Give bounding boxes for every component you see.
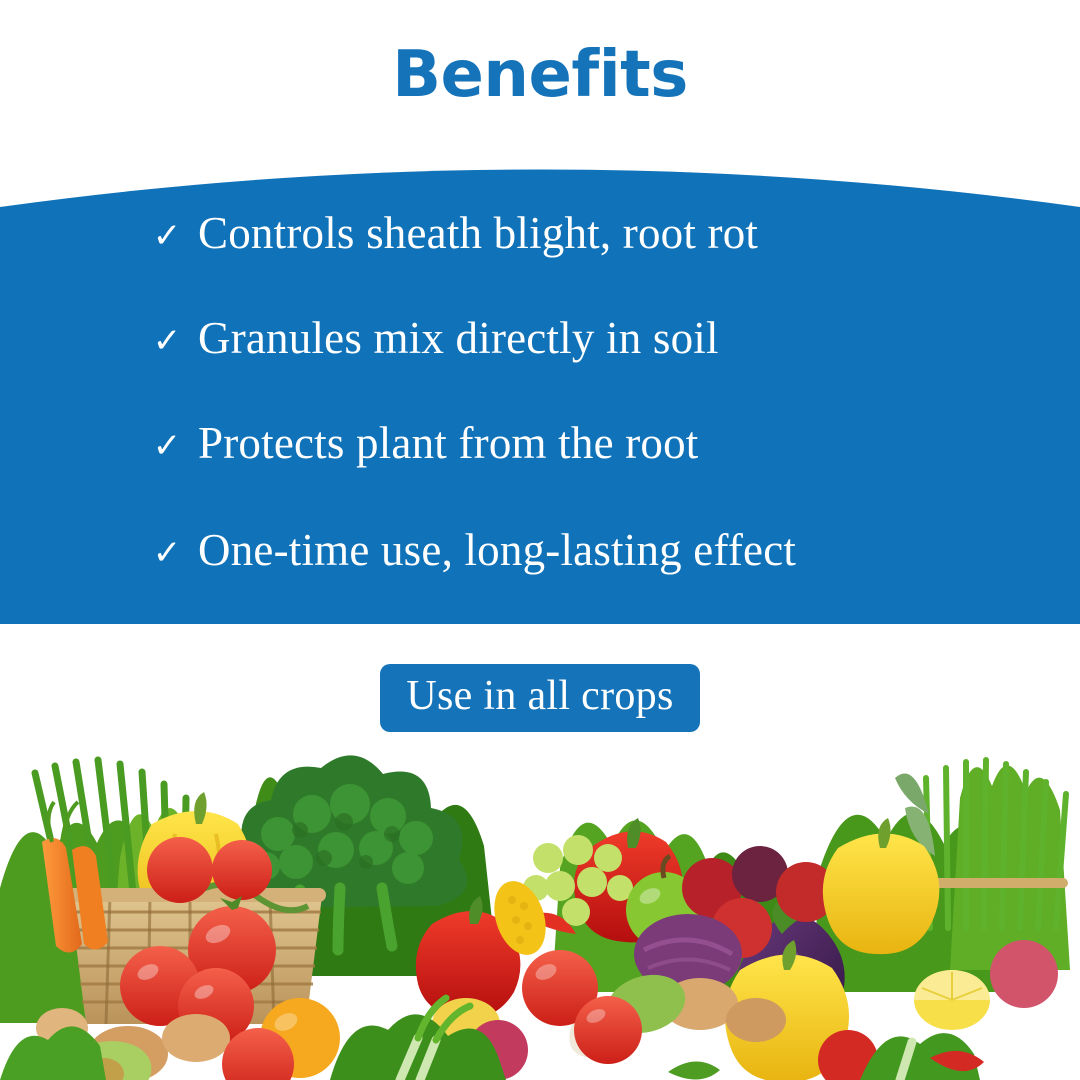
page-title-area: Benefits bbox=[0, 0, 1080, 150]
benefit-label: Protects plant from the root bbox=[198, 420, 699, 467]
benefit-item: ✓ Granules mix directly in soil bbox=[150, 315, 719, 362]
benefit-label: Controls sheath blight, root rot bbox=[198, 210, 758, 257]
benefits-list: ✓ Controls sheath blight, root rot ✓ Gra… bbox=[0, 148, 1080, 624]
check-icon: ✓ bbox=[150, 219, 184, 253]
produce-photo bbox=[0, 738, 1080, 1080]
check-icon: ✓ bbox=[150, 429, 184, 463]
benefits-banner: ✓ Controls sheath blight, root rot ✓ Gra… bbox=[0, 148, 1080, 624]
benefit-item: ✓ One-time use, long-lasting effect bbox=[150, 527, 796, 574]
benefit-item: ✓ Protects plant from the root bbox=[150, 420, 699, 467]
benefits-poster: Benefits ✓ Controls sheath blight, root … bbox=[0, 0, 1080, 1080]
use-in-all-crops-badge: Use in all crops bbox=[380, 664, 699, 732]
check-icon: ✓ bbox=[150, 536, 184, 570]
badge-row: Use in all crops bbox=[0, 664, 1080, 732]
page-title: Benefits bbox=[392, 43, 688, 107]
benefit-item: ✓ Controls sheath blight, root rot bbox=[150, 210, 758, 257]
benefit-label: One-time use, long-lasting effect bbox=[198, 527, 796, 574]
benefit-label: Granules mix directly in soil bbox=[198, 315, 719, 362]
check-icon: ✓ bbox=[150, 324, 184, 358]
produce-illustration bbox=[0, 738, 1080, 1080]
